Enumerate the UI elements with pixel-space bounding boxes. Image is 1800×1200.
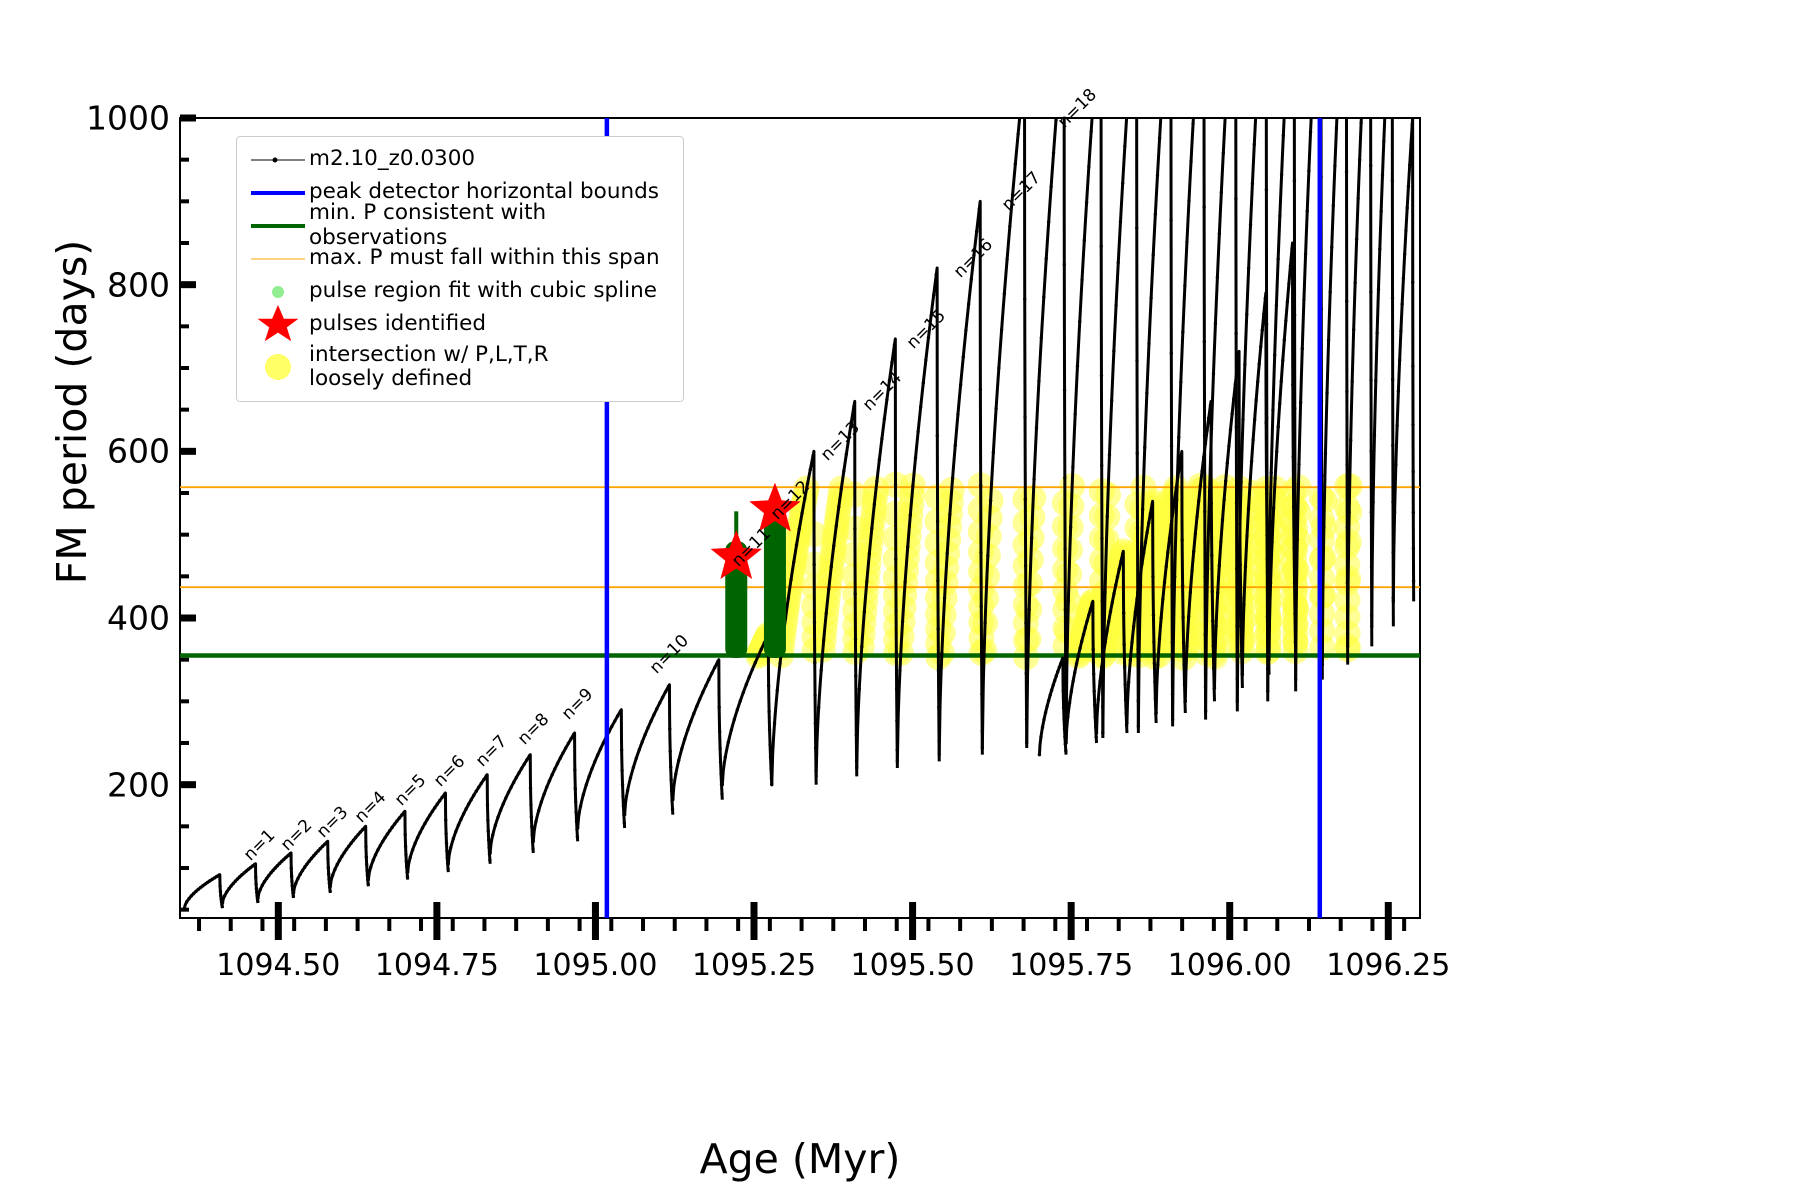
chart-legend: m2.10_z0.0300 peak detector horizontal b… (236, 136, 684, 402)
chart-figure: 1094.501094.751095.001095.251095.501095.… (0, 0, 1800, 1200)
x-tick-label: 1096.00 (1168, 948, 1292, 983)
yellow-dot-icon (247, 352, 309, 382)
legend-label-min-period: min. P consistent with observations (309, 201, 673, 249)
x-tick-label: 1094.75 (375, 948, 499, 983)
x-tick-label: 1095.50 (851, 948, 975, 983)
legend-item-min-period[interactable]: min. P consistent with observations (247, 209, 673, 242)
legend-item-spline-fit[interactable]: pulse region fit with cubic spline (247, 275, 673, 308)
line-orange-icon (247, 244, 309, 274)
legend-item-pulses[interactable]: pulses identified (247, 308, 673, 341)
legend-item-max-span[interactable]: max. P must fall within this span (247, 242, 673, 275)
line-green-icon (247, 211, 309, 241)
legend-label-series: m2.10_z0.0300 (309, 147, 475, 171)
x-tick-label: 1095.25 (692, 948, 816, 983)
x-tick-label: 1095.75 (1009, 948, 1133, 983)
line-blue-icon (247, 178, 309, 208)
legend-label-pulses: pulses identified (309, 312, 486, 336)
legend-label-intersection: intersection w/ P,L,T,R loosely defined (309, 343, 549, 391)
legend-label-max-span: max. P must fall within this span (309, 246, 660, 270)
legend-item-series[interactable]: m2.10_z0.0300 (247, 143, 673, 176)
x-tick-label: 1094.50 (216, 948, 340, 983)
legend-label-spline-fit: pulse region fit with cubic spline (309, 279, 657, 303)
y-tick-label: 200 (40, 765, 170, 804)
x-tick-label: 1096.25 (1326, 948, 1450, 983)
red-star-icon (247, 310, 309, 340)
y-tick-label: 1000 (40, 99, 170, 138)
x-axis-title: Age (Myr) (180, 1135, 1420, 1183)
x-tick-label: 1095.00 (533, 948, 657, 983)
legend-item-intersection[interactable]: intersection w/ P,L,T,R loosely defined (247, 341, 673, 393)
x-axis-minor-ticks (199, 918, 1404, 931)
line-black-icon (247, 145, 309, 175)
y-axis-title: FM period (days) (48, 152, 96, 672)
